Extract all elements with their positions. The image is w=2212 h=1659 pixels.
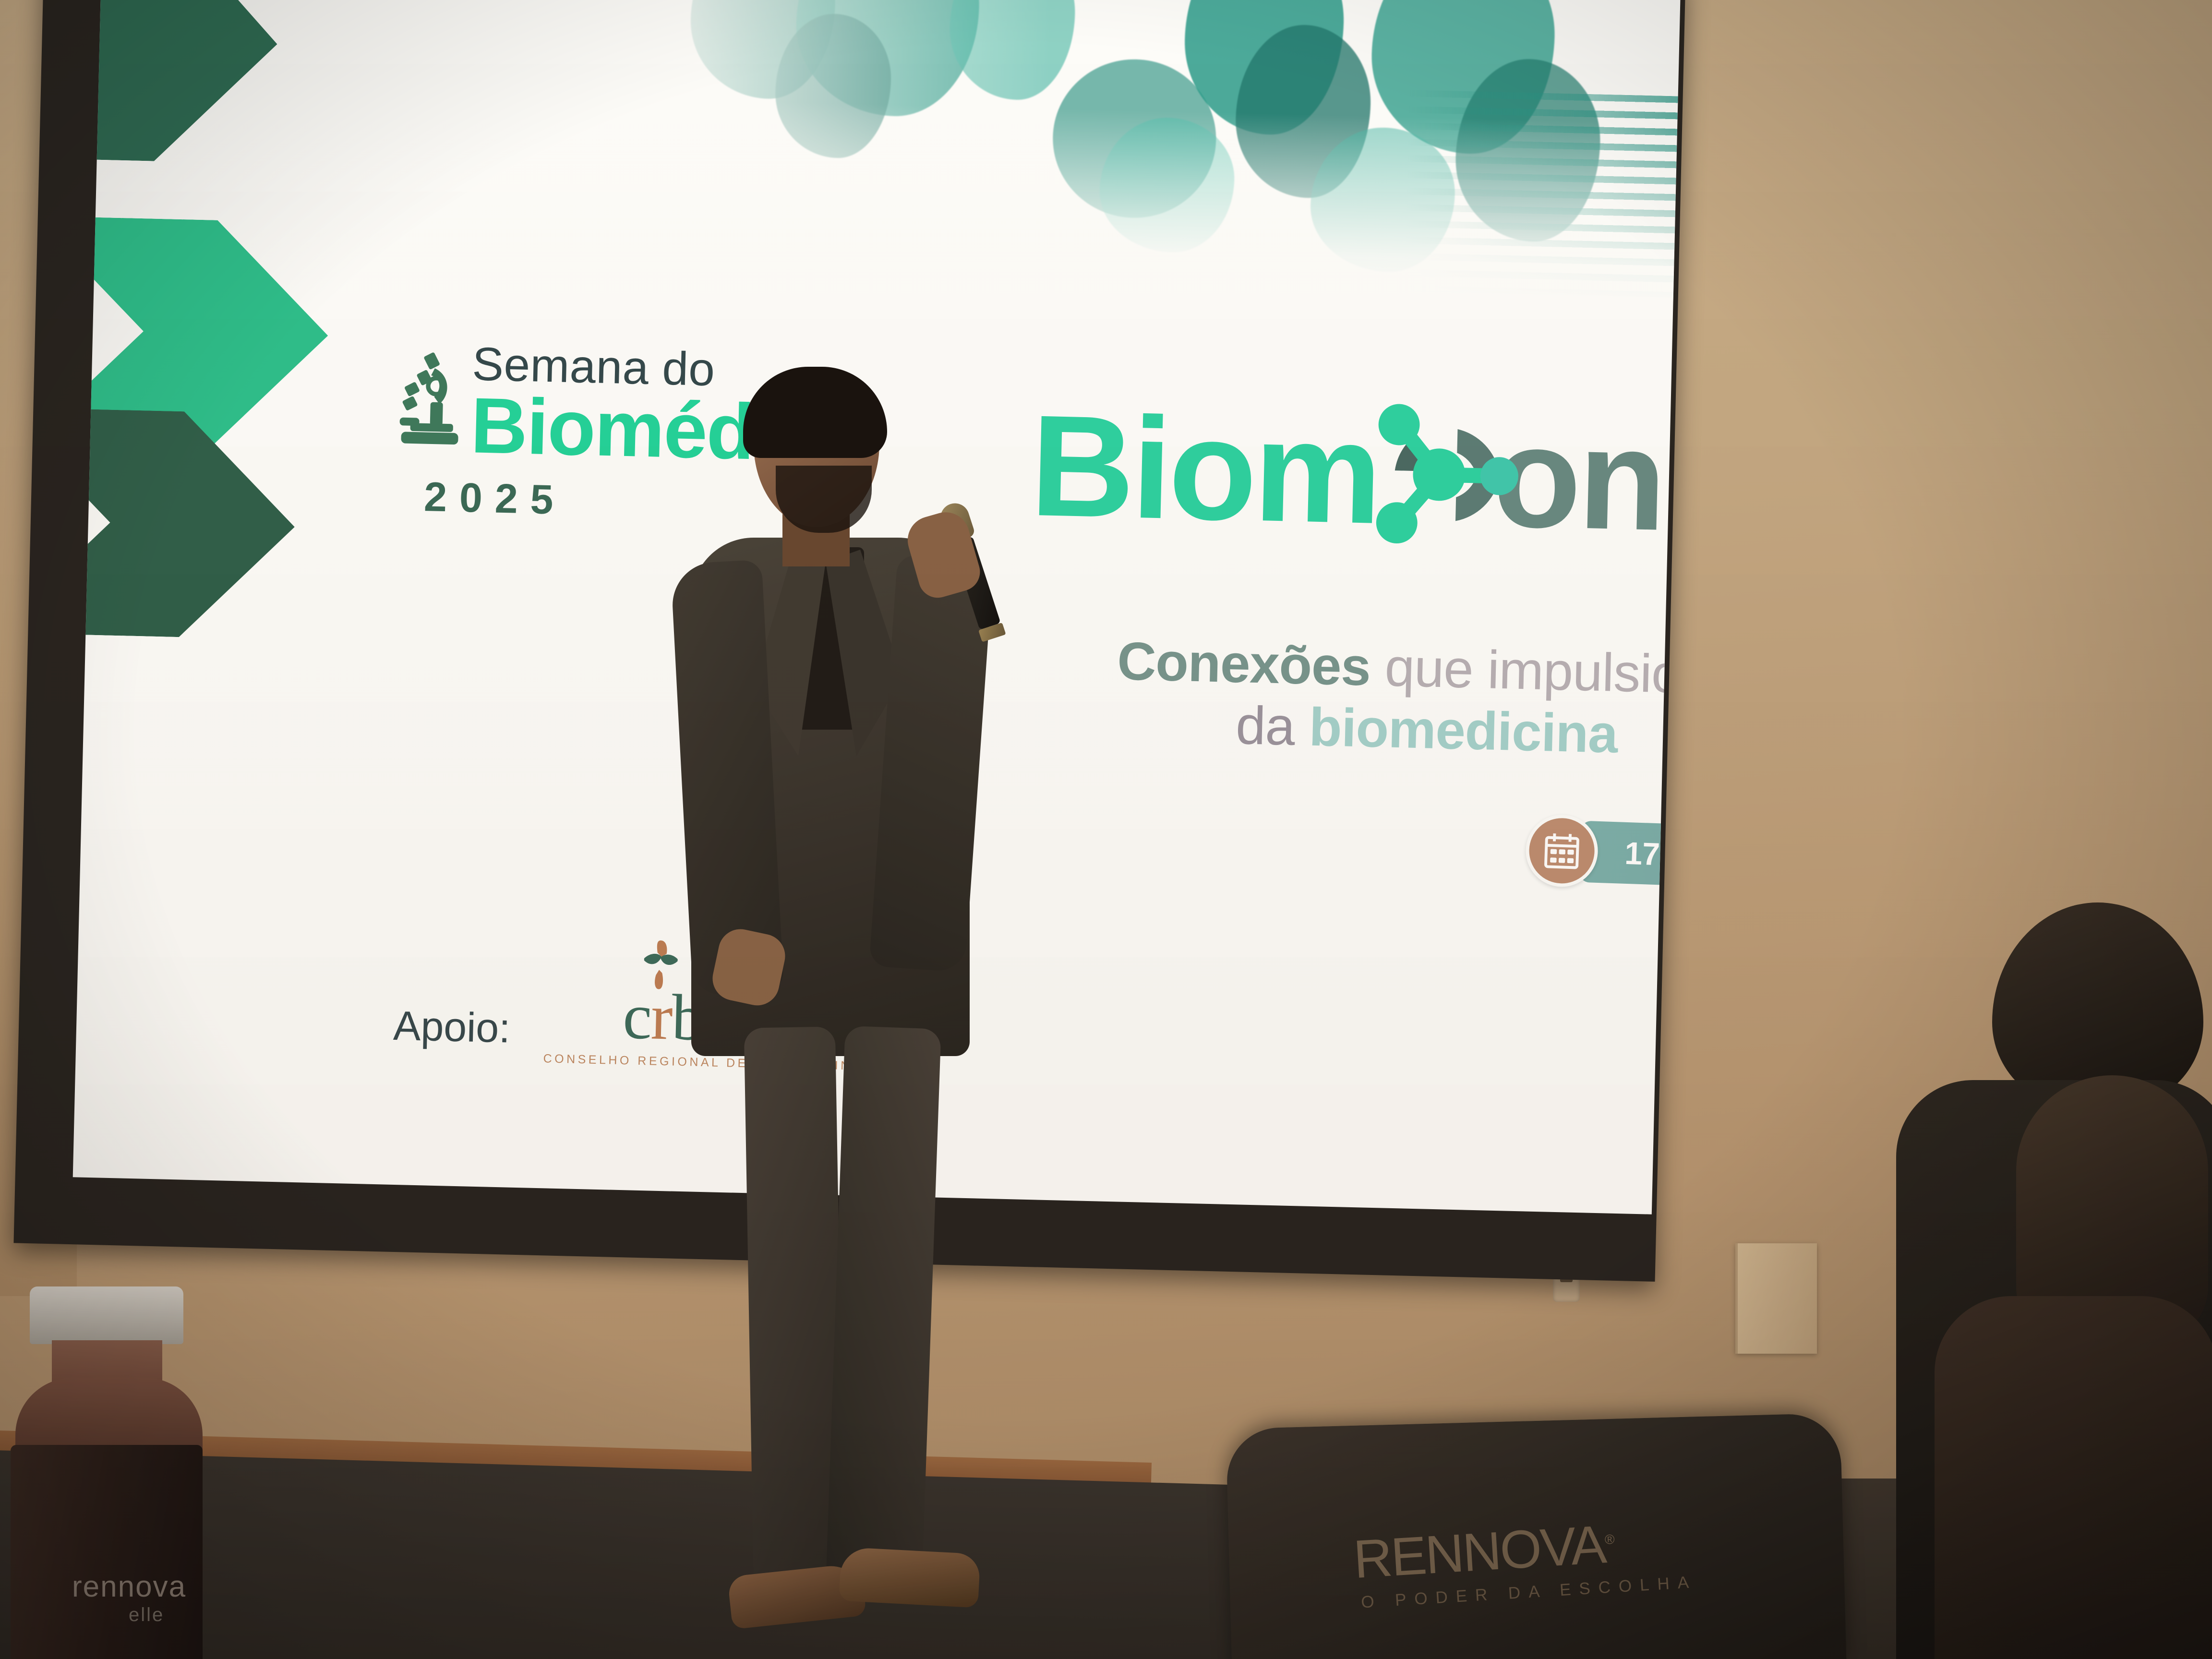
rennova-brand-text: RENNOVA — [1352, 1514, 1607, 1589]
bottle-cap — [30, 1286, 183, 1344]
speaker-hair — [743, 367, 887, 458]
speaker-figure — [682, 355, 1075, 1651]
title-part-gray: onecta — [1491, 404, 1681, 559]
tagline-bold-2: biomedicina — [1309, 697, 1618, 764]
chevron-shape-dark — [73, 0, 280, 164]
tagline-bold-1: Conexões — [1117, 631, 1371, 697]
collage-fade-left — [627, 0, 1681, 302]
bottle-brand-label: rennova — [72, 1570, 186, 1604]
speaker-leg-right — [825, 1026, 941, 1600]
leaf-cross-icon — [639, 938, 682, 992]
calendar-icon — [1542, 831, 1581, 871]
chair-cover-banner: RENNOVA® O PODER DA ESCOLHA — [1226, 1413, 1846, 1659]
bottle-volume-label: 150mg — [125, 1657, 183, 1659]
chevron-shape-deep — [73, 407, 298, 639]
audience-body-front — [1935, 1296, 2212, 1659]
slide-tagline: Conexões que impulsionam o futuro da bio… — [1115, 630, 1681, 780]
screenshot-root: Semana do Biomédico 2025 Biom — [0, 0, 2212, 1659]
bottle-line-label: elle — [129, 1604, 164, 1626]
crbm-c: c — [622, 980, 652, 1053]
bottle-body — [11, 1445, 203, 1659]
speaker-shoe-right — [839, 1547, 980, 1608]
wall-panel — [1735, 1243, 1817, 1354]
slide-title: Biom onecta — [1028, 350, 1681, 611]
photo-collage — [627, 0, 1681, 302]
product-bottle: rennova elle 150mg — [5, 1286, 206, 1659]
registered-mark: ® — [1604, 1532, 1614, 1547]
tagline-light-2: da — [1235, 695, 1295, 757]
date-badge: 17 a 21 Nov — [1525, 816, 1681, 894]
hexagon-decoration — [73, 0, 396, 733]
sponsor-label: Apoio: — [393, 1002, 511, 1065]
molecule-network-icon — [1358, 394, 1520, 556]
rennova-banner-logo: RENNOVA® O PODER DA ESCOLHA — [1352, 1511, 1721, 1612]
title-part-green: Biom — [1029, 393, 1381, 545]
microscope-icon — [397, 347, 462, 449]
crbm-r: r — [650, 981, 673, 1054]
